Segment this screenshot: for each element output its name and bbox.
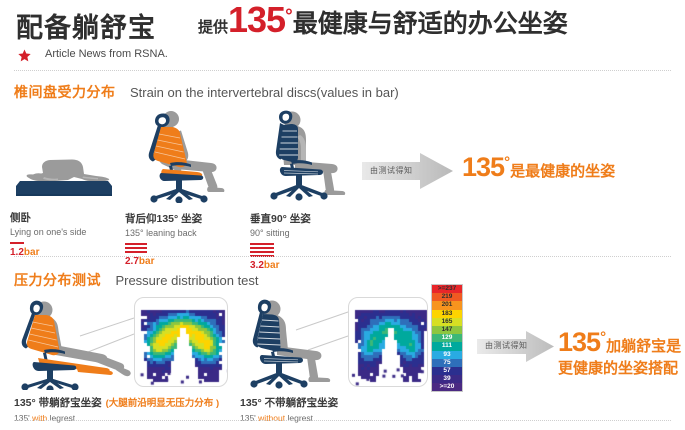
star-icon	[18, 49, 31, 62]
legend-row: 147	[432, 326, 462, 334]
gauge-bar	[250, 251, 274, 253]
caption1-row-cn: 135° 带躺舒宝坐姿(大腿前沿明显无压力分布 )	[14, 393, 219, 411]
divider-top	[14, 70, 671, 71]
legend-row: 219	[432, 293, 462, 301]
figure-135-leaning-back: 背后仰135° 坐姿 135° leaning back 2.7bar	[125, 107, 235, 267]
lead-lines	[296, 312, 348, 350]
figure-135-without-legrest	[232, 294, 350, 395]
header: 配备躺舒宝 提供135°最健康与舒适的办公坐姿 Article News fro…	[0, 0, 685, 72]
section2-conclusion: 135°加躺舒宝是 更健康的坐姿搭配	[558, 327, 681, 378]
figure-lying-on-side: 侧卧 Lying on one's side 1.2bar	[10, 150, 118, 258]
caption2-label-cn: 135° 不带躺舒宝坐姿	[240, 397, 338, 409]
gauge-bar	[250, 247, 274, 249]
page-title-right: 提供135°最健康与舒适的办公坐姿	[198, 2, 568, 38]
legend-row: >=20	[432, 383, 462, 391]
caption2-row-cn: 135° 不带躺舒宝坐姿	[240, 393, 342, 411]
chair-90-illustration	[250, 107, 355, 203]
figure2-value: 2.7bar	[125, 256, 235, 267]
caption1-en-highlight: with	[32, 413, 47, 423]
section1-conclusion-text: 是最健康的坐姿	[510, 163, 615, 180]
gauge-bar	[125, 243, 147, 245]
section2-conclusion-number: 135	[558, 327, 600, 357]
figure-135-with-legrest	[6, 294, 136, 395]
pressure-map-canvas	[135, 298, 228, 387]
section1-heading-en: Strain on the intervertebral discs(value…	[130, 85, 399, 100]
caption1-label-en: 135' with legrest	[14, 413, 219, 423]
lying-person-illustration	[10, 150, 118, 202]
pressure-map-without-legrest	[348, 297, 428, 387]
caption1-en-prefix: 135'	[14, 413, 32, 423]
gauge-bar	[125, 251, 147, 253]
section2-heading-cn: 压力分布测试	[14, 272, 101, 288]
figure2-label-cn: 背后仰135° 坐姿	[125, 211, 235, 226]
figure3-label-en: 90° sitting	[250, 228, 355, 238]
legend-row: 129	[432, 334, 462, 342]
figure2-label-en: 135° leaning back	[125, 228, 235, 238]
figure3-value: 3.2bar	[250, 260, 355, 271]
divider-bottom	[14, 420, 671, 421]
gauge-bar	[10, 242, 24, 244]
legend-row: 39	[432, 375, 462, 383]
pressure-legend: >=23721920118316514712911193755739>=20	[431, 284, 463, 392]
figure3-label-cn: 垂直90° 坐姿	[250, 211, 355, 226]
gauge-bar	[125, 247, 147, 249]
legend-row: 183	[432, 310, 462, 318]
caption2-en-highlight: without	[258, 413, 285, 423]
caption2-en-suffix: legrest	[285, 413, 313, 423]
title-number: 135	[228, 0, 285, 40]
figure3-bar-gauge	[250, 243, 355, 257]
title-prefix: 提供	[198, 19, 228, 36]
figure1-label-cn: 侧卧	[10, 210, 118, 225]
gauge-bar	[250, 243, 274, 245]
caption1-en-suffix: legrest	[47, 413, 75, 423]
legend-row: 75	[432, 359, 462, 367]
lead-lines	[80, 318, 134, 352]
section2-conclusion-line2: 更健康的坐姿搭配	[558, 360, 681, 378]
section2-arrow: 由测试得知	[477, 330, 555, 363]
section1-heading-cn: 椎间盘受力分布	[14, 84, 116, 100]
caption2-label-en: 135' without legrest	[240, 413, 342, 423]
legend-row: 57	[432, 367, 462, 375]
page-title-left: 配备躺舒宝	[16, 6, 156, 45]
figure2-value-unit: bar	[139, 256, 155, 267]
section1-arrow-label: 由测试得知	[370, 165, 413, 176]
figure1-label-en: Lying on one's side	[10, 227, 118, 237]
caption-without-legrest: 135° 不带躺舒宝坐姿 135' without legrest	[240, 393, 342, 423]
title-degree-symbol: °	[285, 6, 293, 27]
section1-conclusion: 135°是最健康的坐姿	[462, 152, 615, 184]
caption2-en-prefix: 135'	[240, 413, 258, 423]
section2-conclusion-line1: 加躺舒宝是	[606, 338, 681, 355]
pressure-map-with-legrest	[134, 297, 228, 387]
caption-with-legrest: 135° 带躺舒宝坐姿(大腿前沿明显无压力分布 ) 135' with legr…	[14, 393, 219, 423]
section1-conclusion-number: 135	[462, 152, 504, 182]
legend-row: 201	[432, 301, 462, 309]
caption1-label-cn: 135° 带躺舒宝坐姿	[14, 397, 102, 409]
infographic-page: 配备躺舒宝 提供135°最健康与舒适的办公坐姿 Article News fro…	[0, 0, 685, 430]
section2-conclusion-degree: °	[600, 329, 606, 346]
legend-row: >=237	[432, 285, 462, 293]
chair-without-legrest-illustration	[232, 294, 350, 390]
section1-heading: 椎间盘受力分布 Strain on the intervertebral dis…	[14, 82, 399, 102]
section1-conclusion-degree: °	[504, 154, 510, 171]
section2-arrow-label: 由测试得知	[485, 340, 528, 351]
title-suffix: 最健康与舒适的办公坐姿	[293, 10, 568, 38]
section2-heading: 压力分布测试 Pressure distribution test	[14, 270, 259, 290]
section2-heading-en: Pressure distribution test	[115, 273, 258, 288]
figure2-bar-gauge	[125, 243, 235, 253]
chair-with-legrest-illustration	[6, 294, 136, 390]
section1-arrow: 由测试得知	[362, 152, 454, 190]
pressure-map-canvas	[349, 298, 428, 387]
legend-row: 165	[432, 318, 462, 326]
figure3-value-unit: bar	[264, 260, 280, 271]
figure1-bar-gauge	[10, 242, 118, 244]
chair-135-illustration	[125, 107, 235, 203]
legend-row: 93	[432, 351, 462, 359]
news-text: Article News from RSNA.	[45, 48, 168, 60]
figure2-value-number: 2.7	[125, 256, 139, 267]
caption1-note-cn: (大腿前沿明显无压力分布 )	[106, 398, 219, 409]
legend-row: 111	[432, 342, 462, 350]
figure-90-sitting: 垂直90° 坐姿 90° sitting 3.2bar	[250, 107, 355, 271]
divider-middle	[14, 256, 671, 257]
